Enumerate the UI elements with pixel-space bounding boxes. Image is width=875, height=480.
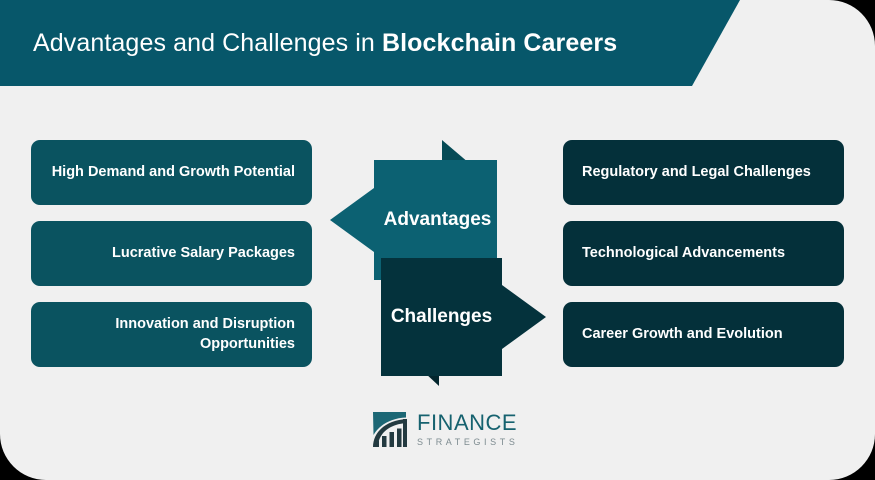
logo-wordmark: FINANCE STRATEGISTS (417, 412, 518, 447)
challenges-list: Regulatory and Legal Challenges Technolo… (563, 140, 844, 367)
list-item[interactable]: High Demand and Growth Potential (31, 140, 312, 205)
center-arrows-group: Advantages Challenges (330, 140, 562, 390)
list-item[interactable]: Innovation and Disruption Opportunities (31, 302, 312, 367)
logo-primary-text: FINANCE (417, 412, 518, 434)
brand-logo: FINANCE STRATEGISTS (372, 408, 518, 450)
list-item[interactable]: Career Growth and Evolution (563, 302, 844, 367)
logo-secondary-text: STRATEGISTS (417, 438, 518, 447)
infographic-canvas: Advantages and Challenges in Blockchain … (0, 0, 875, 480)
header-banner: Advantages and Challenges in Blockchain … (0, 0, 740, 86)
page-title-accent: Blockchain Careers (382, 29, 617, 57)
list-item[interactable]: Lucrative Salary Packages (31, 221, 312, 286)
page-title: Advantages and Challenges in Blockchain … (33, 29, 617, 58)
challenges-label: Challenges (381, 258, 502, 376)
list-item[interactable]: Technological Advancements (563, 221, 844, 286)
bar-chart-swoosh-icon (372, 410, 408, 448)
advantages-list: High Demand and Growth Potential Lucrati… (31, 140, 312, 367)
page-title-normal: Advantages and Challenges in (33, 29, 382, 57)
list-item[interactable]: Regulatory and Legal Challenges (563, 140, 844, 205)
